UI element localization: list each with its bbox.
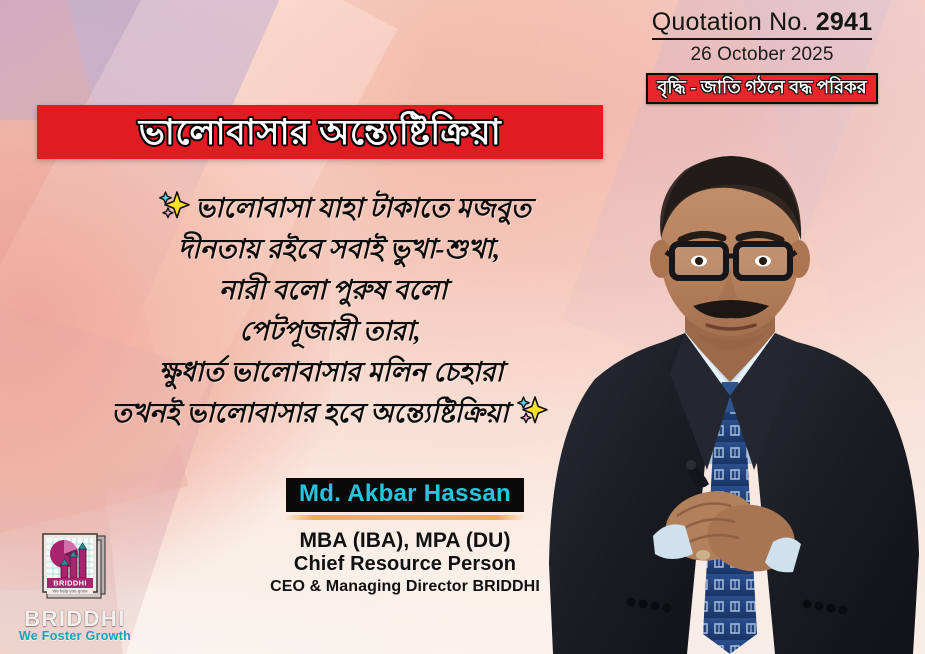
tagline-text: বৃদ্ধি - জাতি গঠনে বদ্ধ পরিকর [657, 77, 866, 98]
logo-name: BRIDDHI [10, 607, 140, 630]
poem-line: দীনতায় রইবে সবাই ভুখা-শুখা, [0, 229, 660, 270]
tagline-banner: বৃদ্ধি - জাতি গঠনে বদ্ধ পরিকর [646, 73, 877, 104]
poem-line: পেটপূজারী তারা, [0, 311, 660, 352]
poem-line: নারী বলো পুরুষ বলো [0, 270, 660, 311]
speaker-position: CEO & Managing Director BRIDDHI [240, 577, 570, 596]
speaker-name-bar: Md. Akbar Hassan [286, 478, 524, 512]
quotation-number-line: Quotation No. 2941 [652, 8, 872, 40]
poem-line-text: পেটপূজারী তারা, [239, 316, 420, 346]
quotation-label: Quotation No. [652, 8, 809, 36]
logo-tagline: We Foster Growth [10, 630, 140, 644]
speaker-role: Chief Resource Person [240, 553, 570, 577]
sparkle-icon [515, 395, 549, 425]
logo-mark-tagline: We help you grow [53, 589, 89, 594]
speaker-qualification: MBA (IBA), MPA (DU) [240, 529, 570, 554]
briddhi-logo-icon: BRIDDHI We help you grow [10, 532, 140, 605]
poem-line: ক্ষুধার্ত ভালোবাসার মলিন চেহারা [0, 352, 660, 393]
quotation-number: 2941 [816, 8, 872, 36]
poster-title: ভালোবাসার অন্ত্যেষ্টিক্রিয়া [139, 115, 502, 150]
poem-line-text: ক্ষুধার্ত ভালোবাসার মলিন চেহারা [159, 357, 504, 387]
header-right-block: Quotation No. 2941 26 October 2025 বৃদ্ধ… [617, 8, 907, 104]
credit-block: Md. Akbar Hassan MBA (IBA), MPA (DU) Chi… [240, 478, 570, 596]
poem-line: তখনই ভালোবাসার হবে অন্ত্যেষ্টিক্রিয়া [0, 393, 660, 434]
sparkle-icon [157, 190, 191, 220]
quotation-poster: Quotation No. 2941 26 October 2025 বৃদ্ধ… [0, 0, 925, 654]
poem-line: ভালোবাসা যাহা টাকাতে মজবুত [0, 188, 660, 229]
poem-block: ভালোবাসা যাহা টাকাতে মজবুত দীনতায় রইবে … [0, 188, 660, 434]
poem-line-text: তখনই ভালোবাসার হবে অন্ত্যেষ্টিক্রিয়া [111, 398, 508, 428]
briddhi-logo-block: BRIDDHI We help you grow BRIDDHI We Fost… [10, 532, 140, 644]
speaker-name: Md. Akbar Hassan [299, 480, 511, 508]
quotation-date: 26 October 2025 [617, 44, 907, 66]
poem-line-text: নারী বলো পুরুষ বলো [219, 275, 447, 305]
poem-line-text: ভালোবাসা যাহা টাকাতে মজবুত [195, 193, 531, 223]
logo-mark-name: BRIDDHI [53, 579, 87, 588]
title-banner: ভালোবাসার অন্ত্যেষ্টিক্রিয়া [37, 105, 603, 159]
name-underline-rule [284, 515, 526, 520]
poem-line-text: দীনতায় রইবে সবাই ভুখা-শুখা, [178, 234, 500, 264]
